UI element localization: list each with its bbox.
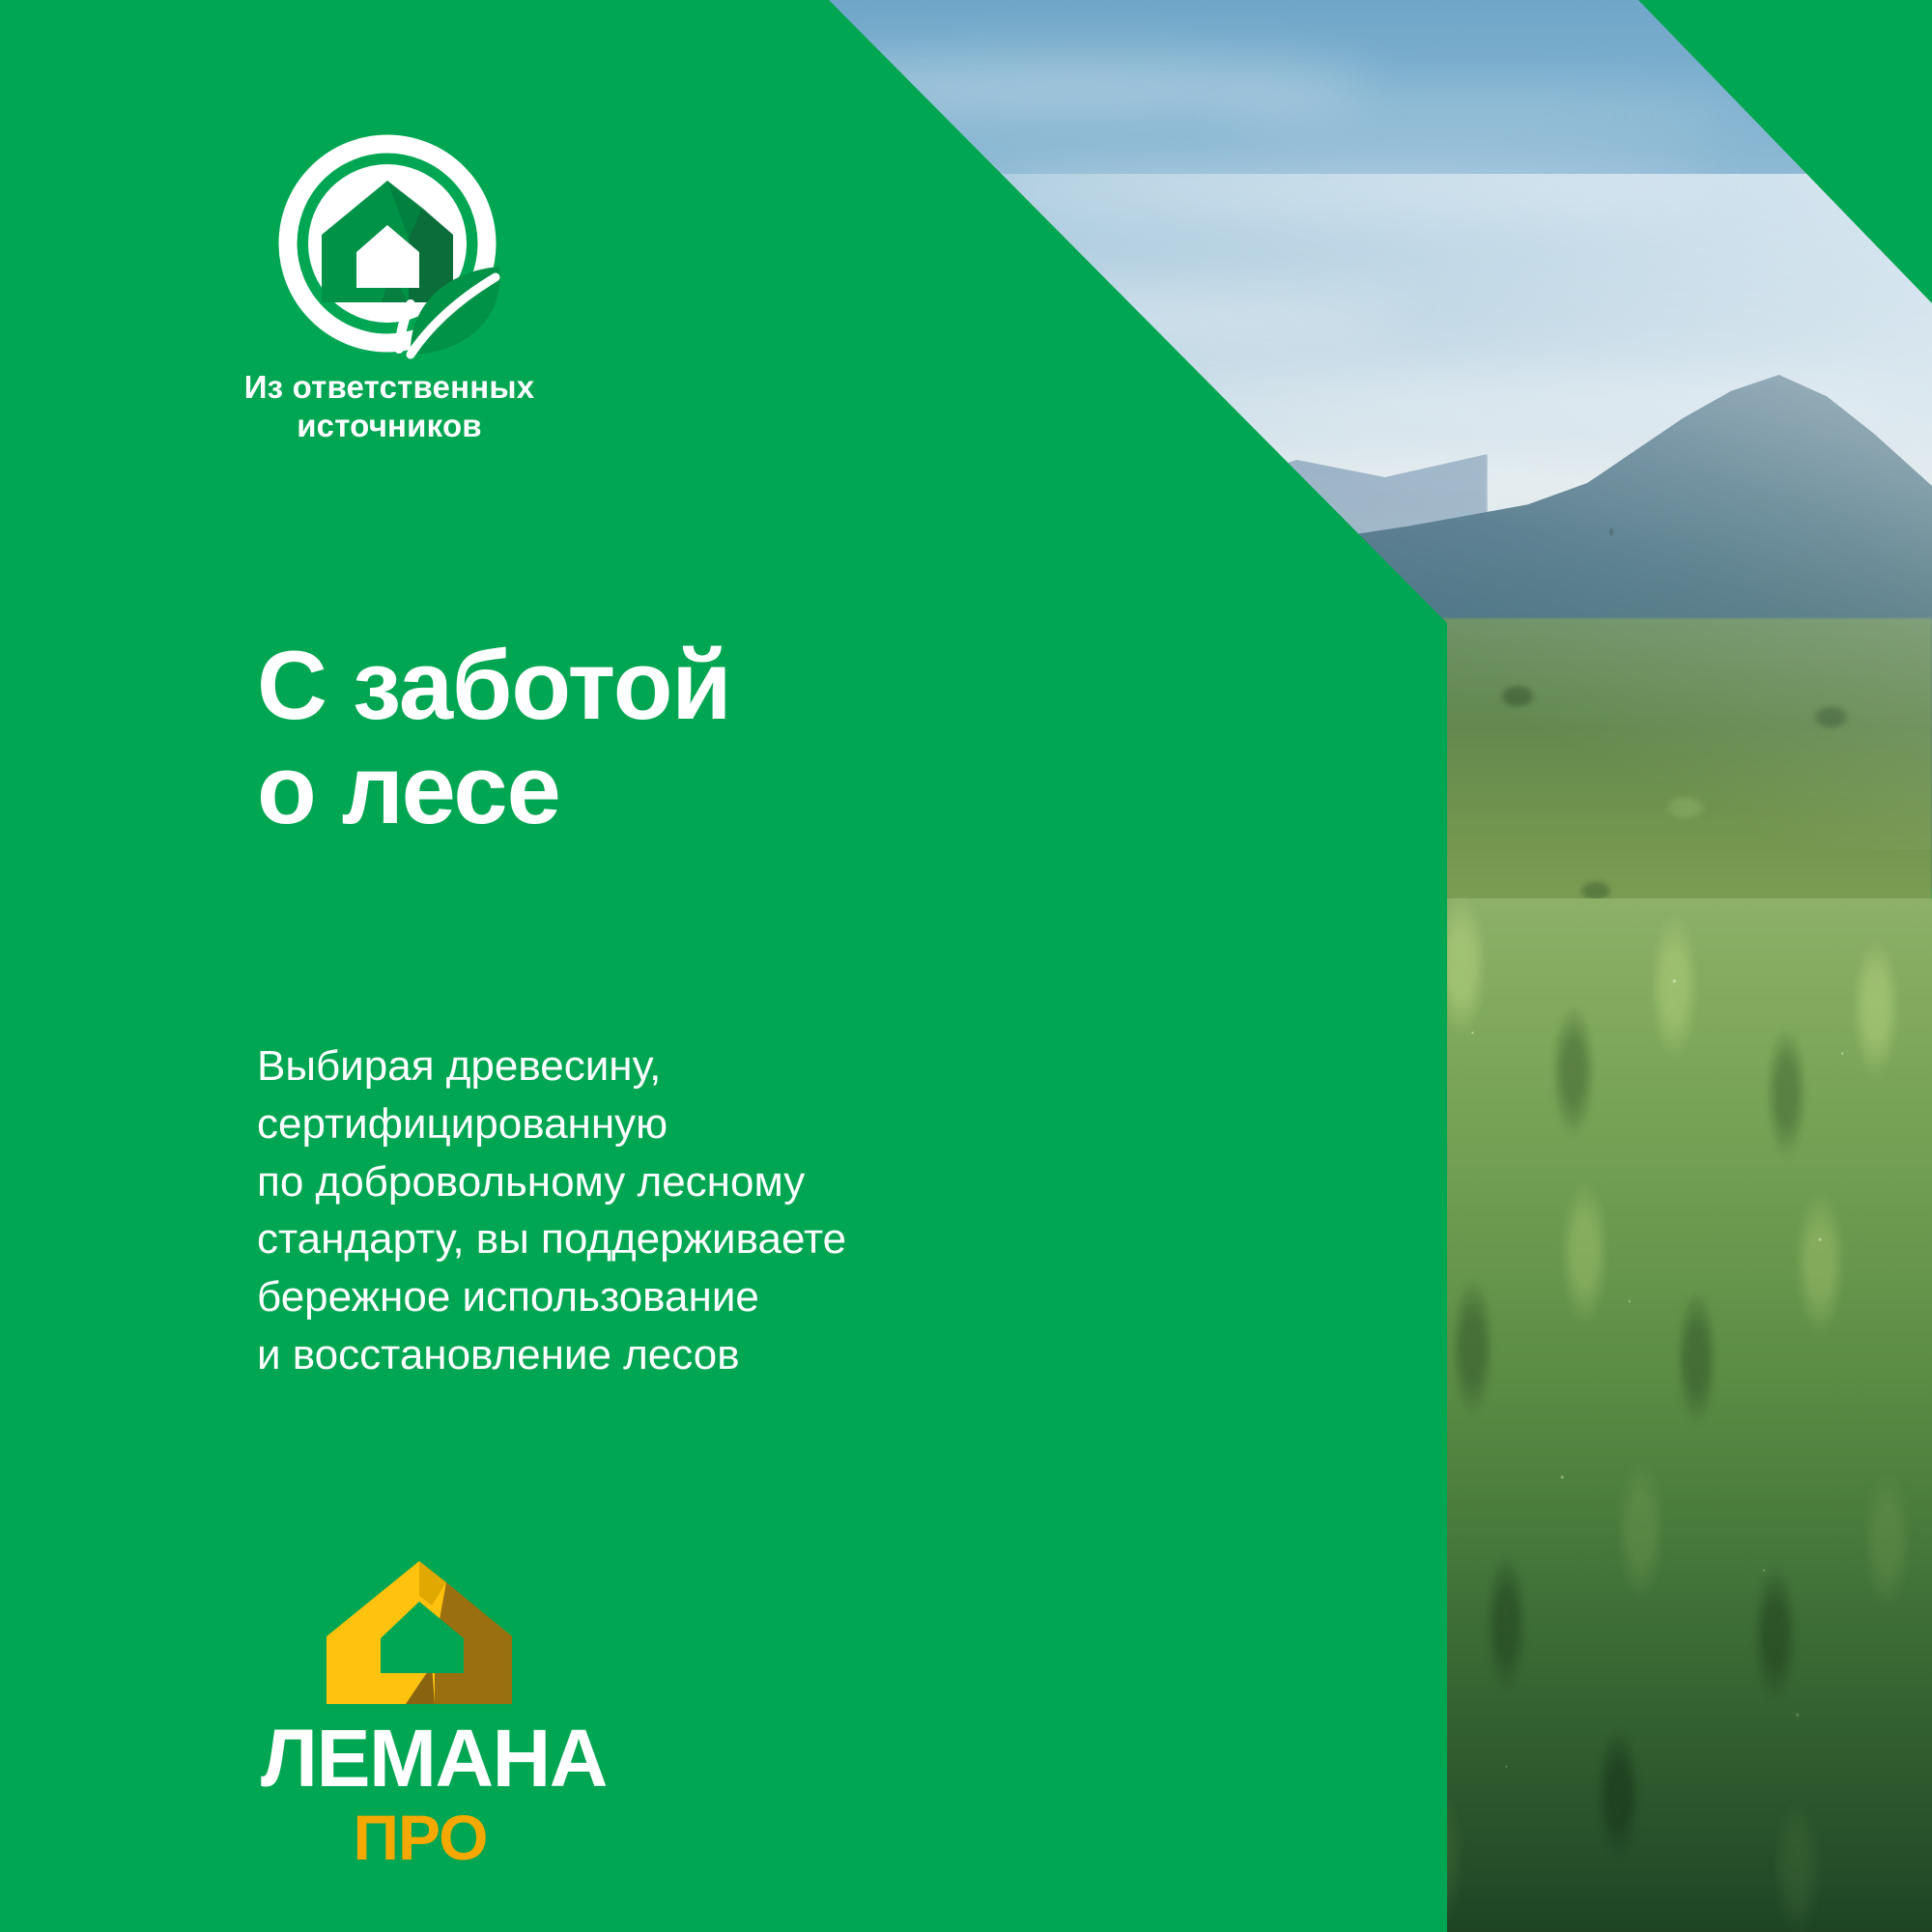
poster-content: Из ответственных источников С заботой о … xyxy=(0,0,1449,1932)
body-copy: Выбирая древесину, сертифицированную по … xyxy=(257,1037,846,1384)
promo-poster: Из ответственных источников С заботой о … xyxy=(0,0,1932,1932)
brand-name: ЛЕМАНА xyxy=(261,1720,580,1798)
brand-suffix: ПРО xyxy=(261,1805,580,1869)
page-title: С заботой о лесе xyxy=(257,634,731,842)
house-leaf-circle-emblem-icon xyxy=(264,130,525,362)
certification-badge: Из ответственных источников xyxy=(259,130,568,446)
brand-lockup: ЛЕМАНА ПРО xyxy=(261,1557,580,1869)
lemana-house-icon xyxy=(323,1557,516,1707)
certification-badge-text: Из ответственных источников xyxy=(206,368,573,446)
